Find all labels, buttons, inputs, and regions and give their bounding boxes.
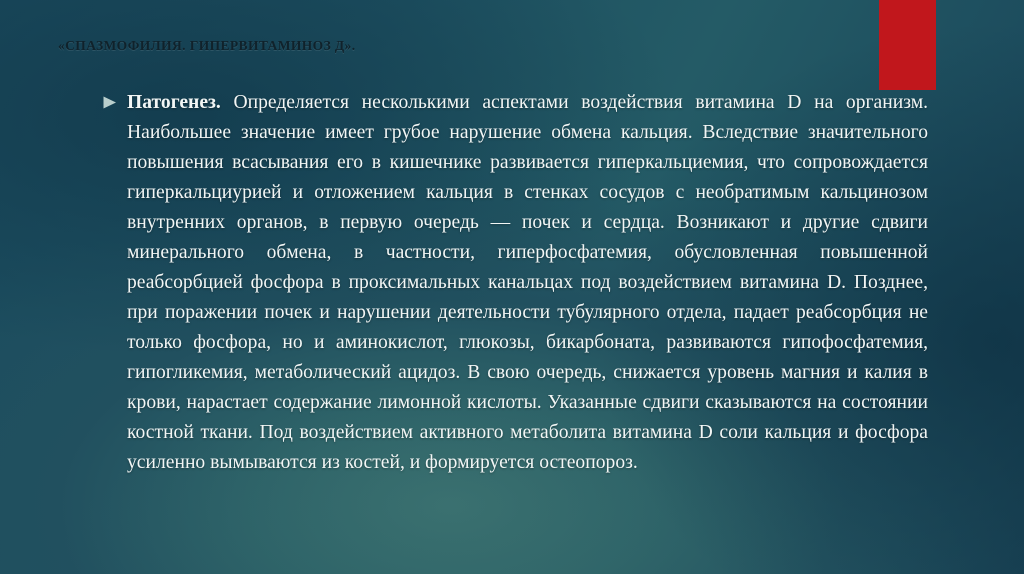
bullet-paragraph: Патогенез. Определяется несколькими аспе… [103,88,928,478]
paragraph-body: Определяется несколькими аспектами возде… [127,92,928,473]
body-text: Патогенез. Определяется несколькими аспе… [127,88,928,478]
triangle-right-icon [103,96,117,109]
slide-title: «СПАЗМОФИЛИЯ. ГИПЕРВИТАМИНОЗ Д». [58,38,758,54]
red-accent-block [879,0,936,90]
presentation-slide: «СПАЗМОФИЛИЯ. ГИПЕРВИТАМИНОЗ Д». Патоген… [0,0,1024,574]
paragraph-lead-term: Патогенез. [127,92,221,113]
